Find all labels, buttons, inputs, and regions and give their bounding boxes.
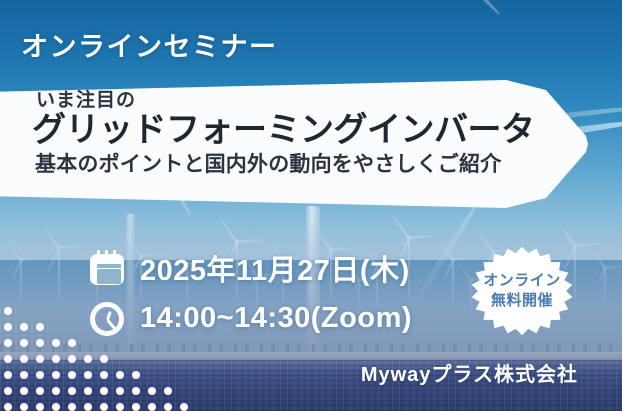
status-badge: オンライン 無料開催 bbox=[466, 243, 578, 339]
decoration-dot bbox=[36, 371, 44, 379]
decoration-dot bbox=[68, 403, 76, 411]
decoration-dot bbox=[100, 355, 108, 363]
decoration-dot bbox=[116, 403, 124, 411]
decoration-dot bbox=[52, 339, 60, 347]
decoration-dot bbox=[100, 371, 108, 379]
decoration-dot bbox=[4, 371, 12, 379]
banner-title: グリッドフォーミングインバータ bbox=[32, 111, 614, 150]
decoration-dot bbox=[132, 403, 140, 411]
title-banner-content: いま注目の グリッドフォーミングインバータ 基本のポイントと国内外の動向をやさし… bbox=[14, 80, 614, 208]
decoration-dot bbox=[20, 323, 28, 331]
decoration-dot bbox=[36, 339, 44, 347]
decoration-dot bbox=[148, 387, 156, 395]
badge-line-1: オンライン bbox=[483, 273, 561, 290]
decoration-dot bbox=[132, 371, 140, 379]
decoration-dot bbox=[148, 403, 156, 411]
decoration-dot bbox=[100, 403, 108, 411]
decoration-dot bbox=[4, 307, 12, 315]
decoration-dot bbox=[4, 403, 12, 411]
decoration-dot bbox=[84, 403, 92, 411]
calendar-icon bbox=[88, 249, 126, 287]
decoration-dot bbox=[52, 387, 60, 395]
event-date-row: 2025年11月27日(木) bbox=[88, 243, 412, 293]
decoration-dot bbox=[84, 371, 92, 379]
decoration-dot bbox=[116, 371, 124, 379]
decoration-dot bbox=[4, 355, 12, 363]
event-date-text: 2025年11月27日(木) bbox=[140, 247, 410, 289]
banner-line-1: いま注目の bbox=[32, 90, 614, 112]
decoration-dot bbox=[116, 387, 124, 395]
decoration-dot bbox=[52, 355, 60, 363]
decoration-dot bbox=[4, 323, 12, 331]
decoration-dot bbox=[52, 403, 60, 411]
decoration-dot bbox=[164, 403, 172, 411]
decoration-dot bbox=[68, 339, 76, 347]
decoration-dot bbox=[84, 387, 92, 395]
seminar-poster: オンラインセミナー いま注目の グリッドフォーミングインバータ 基本のポイントと… bbox=[0, 0, 622, 411]
decoration-dot bbox=[52, 371, 60, 379]
badge-line-2: 無料開催 bbox=[491, 293, 553, 310]
decoration-dot bbox=[20, 339, 28, 347]
decoration-dot bbox=[164, 387, 172, 395]
decoration-dot bbox=[180, 403, 188, 411]
badge-text: オンライン 無料開催 bbox=[466, 243, 578, 339]
eyebrow-label: オンラインセミナー bbox=[21, 25, 278, 64]
decoration-dot bbox=[100, 387, 108, 395]
decoration-dot bbox=[4, 387, 12, 395]
decoration-dot bbox=[4, 339, 12, 347]
decoration-dot bbox=[20, 355, 28, 363]
decoration-dot bbox=[84, 355, 92, 363]
decoration-dot bbox=[36, 323, 44, 331]
decoration-dot bbox=[36, 403, 44, 411]
event-time-row: 14:00~14:30(Zoom) bbox=[88, 293, 412, 343]
decoration-dot bbox=[20, 387, 28, 395]
event-time-text: 14:00~14:30(Zoom) bbox=[140, 302, 412, 335]
banner-subtitle: 基本のポイントと国内外の動向をやさしくご紹介 bbox=[32, 152, 614, 177]
decoration-dot bbox=[20, 403, 28, 411]
clock-icon bbox=[88, 299, 126, 337]
decoration-dot bbox=[132, 387, 140, 395]
decoration-dot bbox=[68, 387, 76, 395]
decoration-dot bbox=[68, 371, 76, 379]
decoration-dot bbox=[68, 355, 76, 363]
event-details: 2025年11月27日(木) 14:00~14:30(Zoom) bbox=[88, 243, 412, 343]
decoration-dot bbox=[36, 355, 44, 363]
decoration-dot bbox=[20, 371, 28, 379]
decoration-dot bbox=[36, 387, 44, 395]
company-name: Mywayプラス株式会社 bbox=[361, 358, 578, 387]
